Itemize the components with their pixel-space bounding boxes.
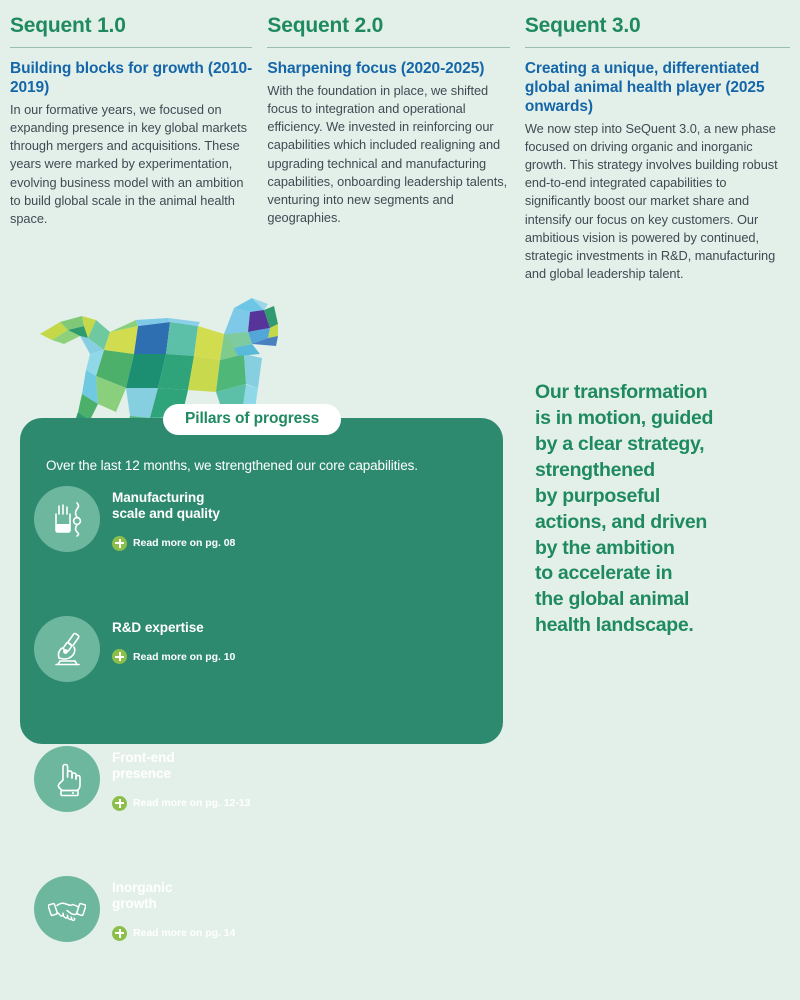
pointing-hand-icon <box>34 746 100 812</box>
plus-icon <box>112 796 127 811</box>
column-body: We now step into SeQuent 3.0, a new phas… <box>525 120 790 283</box>
card-subtitle: Over the last 12 months, we strengthened… <box>46 458 418 473</box>
column-divider <box>267 47 509 48</box>
column-title: Sequent 1.0 <box>10 14 252 37</box>
timeline-columns: Sequent 1.0 Building blocks for growth (… <box>0 0 800 283</box>
plus-icon <box>112 536 127 551</box>
pillar-rnd-expertise[interactable]: R&D expertise Read more on pg. 10 <box>34 610 274 740</box>
pillar-label: Inorganic growth <box>112 880 235 913</box>
column-heading: Creating a unique, differentiated global… <box>525 60 790 117</box>
microscope-icon <box>34 616 100 682</box>
pillar-label: R&D expertise <box>112 620 235 636</box>
pillar-text: Manufacturing scale and quality Read mor… <box>112 486 235 551</box>
pillar-inorganic-growth[interactable]: Inorganic growth Read more on pg. 14 <box>34 870 274 1000</box>
pillar-link-label: Read more on pg. 08 <box>133 537 235 549</box>
pillar-text: R&D expertise Read more on pg. 10 <box>112 616 235 664</box>
column-divider <box>525 47 790 48</box>
column-divider <box>10 47 252 48</box>
column-title: Sequent 2.0 <box>267 14 509 37</box>
column-body: With the foundation in place, we shifted… <box>267 82 509 227</box>
pillar-read-more-link[interactable]: Read more on pg. 08 <box>112 536 235 551</box>
column-heading: Building blocks for growth (2010-2019) <box>10 60 252 98</box>
pillar-read-more-link[interactable]: Read more on pg. 12-13 <box>112 796 250 811</box>
pillars-of-progress-badge: Pillars of progress <box>163 404 341 435</box>
column-heading: Sharpening focus (2020-2025) <box>267 60 509 79</box>
pillar-link-label: Read more on pg. 14 <box>133 927 235 939</box>
pillars-grid: Manufacturing scale and quality Read mor… <box>34 480 494 1000</box>
pillar-text: Front-end presence Read more on pg. 12-1… <box>112 746 250 811</box>
pillar-link-label: Read more on pg. 12-13 <box>133 797 250 809</box>
pillars-card: Over the last 12 months, we strengthened… <box>20 418 503 744</box>
column-sequent-3: Sequent 3.0 Creating a unique, different… <box>525 14 790 283</box>
pillar-label: Manufacturing scale and quality <box>112 490 235 523</box>
pillar-text: Inorganic growth Read more on pg. 14 <box>112 876 235 941</box>
plus-icon <box>112 926 127 941</box>
closing-statement: Our transformation is in motion, guided … <box>535 380 795 639</box>
pillar-read-more-link[interactable]: Read more on pg. 10 <box>112 649 235 664</box>
plus-icon <box>112 649 127 664</box>
column-sequent-1: Sequent 1.0 Building blocks for growth (… <box>10 14 252 283</box>
pillar-manufacturing[interactable]: Manufacturing scale and quality Read mor… <box>34 480 274 610</box>
handshake-icon <box>34 876 100 942</box>
pillar-read-more-link[interactable]: Read more on pg. 14 <box>112 926 235 941</box>
beaker-icon <box>34 486 100 552</box>
column-body: In our formative years, we focused on ex… <box>10 101 252 228</box>
pillar-link-label: Read more on pg. 10 <box>133 651 235 663</box>
pillar-label: Front-end presence <box>112 750 250 783</box>
column-sequent-2: Sequent 2.0 Sharpening focus (2020-2025)… <box>267 14 509 283</box>
column-title: Sequent 3.0 <box>525 14 790 37</box>
